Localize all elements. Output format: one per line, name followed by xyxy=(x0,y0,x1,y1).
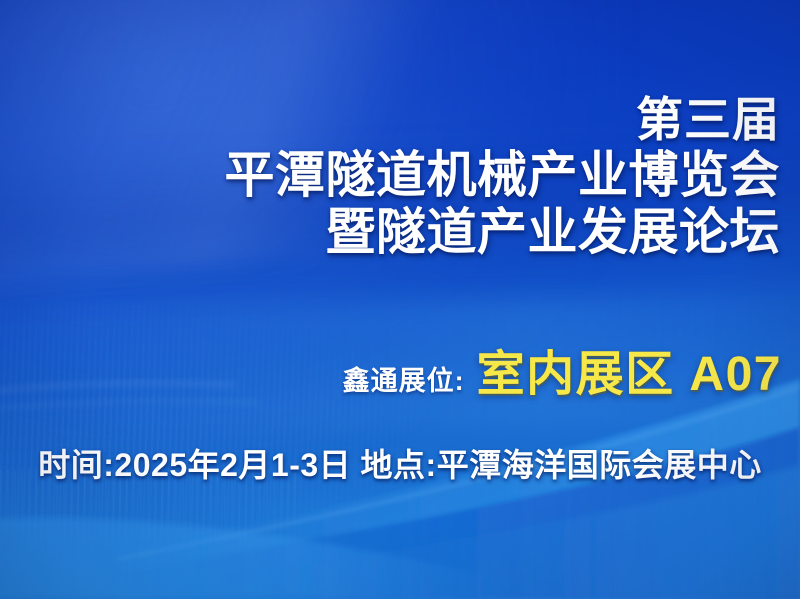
title-line-expo-name: 平潭隧道机械产业博览会 xyxy=(225,150,781,200)
event-title-block: 第三届 平潭隧道机械产业博览会 暨隧道产业发展论坛 xyxy=(225,96,781,257)
title-line-forum-name: 暨隧道产业发展论坛 xyxy=(225,207,781,257)
booth-number: 室内展区 A07 xyxy=(477,334,782,404)
event-info-row: 时间:2025年2月1-3日 地点:平潭海洋国际会展中心 xyxy=(0,440,800,486)
title-line-edition: 第三届 xyxy=(225,96,781,143)
booth-info-row: 鑫通展位: 室内展区 A07 xyxy=(343,334,782,404)
event-datetime-and-venue: 时间:2025年2月1-3日 地点:平潭海洋国际会展中心 xyxy=(38,447,761,483)
booth-label: 鑫通展位: xyxy=(343,359,465,398)
poster-content: 第三届 平潭隧道机械产业博览会 暨隧道产业发展论坛 鑫通展位: 室内展区 A07… xyxy=(0,0,800,599)
event-poster: 第三届 平潭隧道机械产业博览会 暨隧道产业发展论坛 鑫通展位: 室内展区 A07… xyxy=(0,0,800,599)
